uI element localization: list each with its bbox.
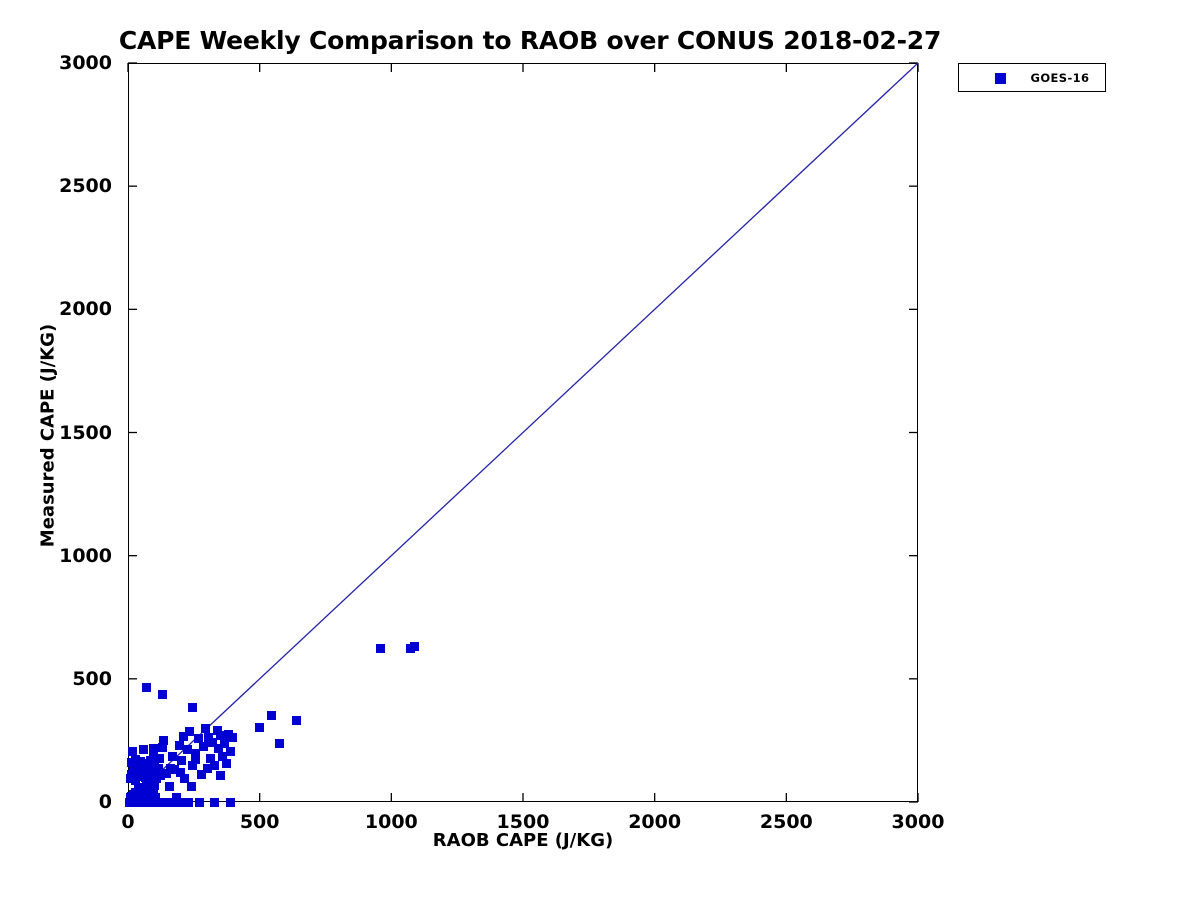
scatter-point bbox=[203, 764, 212, 773]
y-tick-label: 0 bbox=[0, 791, 112, 813]
scatter-point bbox=[267, 711, 276, 720]
scatter-point bbox=[142, 683, 151, 692]
scatter-point bbox=[191, 755, 200, 764]
chart-title: CAPE Weekly Comparison to RAOB over CONU… bbox=[0, 26, 1060, 55]
y-tick-label: 2500 bbox=[0, 175, 112, 197]
scatter-point bbox=[165, 782, 174, 791]
y-axis-title: Measured CAPE (J/KG) bbox=[38, 236, 59, 636]
scatter-point bbox=[151, 793, 160, 802]
scatter-point bbox=[228, 733, 237, 742]
scatter-point bbox=[201, 724, 210, 733]
chart-figure: CAPE Weekly Comparison to RAOB over CONU… bbox=[0, 0, 1200, 900]
scatter-point bbox=[376, 644, 385, 653]
legend-label-goes16: GOES-16 bbox=[1019, 71, 1101, 85]
plot-area bbox=[128, 63, 918, 802]
y-tick-label: 3000 bbox=[0, 52, 112, 74]
scatter-point bbox=[183, 745, 192, 754]
scatter-point bbox=[166, 764, 175, 773]
scatter-point bbox=[179, 732, 188, 741]
scatter-point bbox=[149, 744, 158, 753]
scatter-point bbox=[139, 745, 148, 754]
scatter-point bbox=[210, 761, 219, 770]
scatter-point bbox=[188, 703, 197, 712]
scatter-point bbox=[222, 759, 231, 768]
scatter-point bbox=[168, 752, 177, 761]
y-tick-label: 500 bbox=[0, 668, 112, 690]
scatter-point bbox=[187, 782, 196, 791]
scatter-point bbox=[176, 768, 185, 777]
scatter-point bbox=[226, 747, 235, 756]
legend[interactable]: GOES-16 bbox=[958, 63, 1106, 92]
scatter-point bbox=[216, 771, 225, 780]
scatter-point bbox=[172, 793, 181, 802]
scatter-point bbox=[184, 798, 193, 807]
legend-swatch-goes16-icon bbox=[995, 73, 1006, 84]
scatter-point bbox=[226, 798, 235, 807]
scatter-point bbox=[210, 798, 219, 807]
scatter-point bbox=[128, 747, 137, 756]
scatter-point bbox=[255, 723, 264, 732]
scatter-point bbox=[292, 716, 301, 725]
scatter-point bbox=[195, 798, 204, 807]
scatter-point bbox=[410, 642, 419, 651]
scatter-point bbox=[177, 756, 186, 765]
scatter-point bbox=[158, 690, 167, 699]
scatter-point bbox=[158, 743, 167, 752]
scatter-point bbox=[275, 739, 284, 748]
x-axis-title: RAOB CAPE (J/KG) bbox=[128, 830, 918, 851]
